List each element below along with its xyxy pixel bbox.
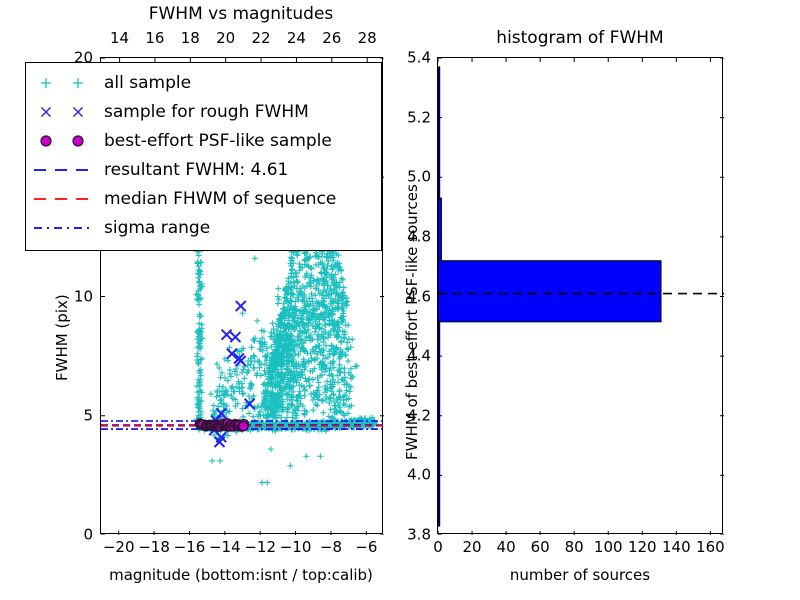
plus-icon <box>26 69 104 97</box>
histogram-x-tick: 120 <box>628 540 657 555</box>
histogram-x-tick: 100 <box>594 540 623 555</box>
histogram-y-tick: 4.0 <box>386 468 431 483</box>
legend-item-label: sample for rough FWHM <box>104 104 309 121</box>
legend-item[interactable]: sigma range <box>26 214 381 242</box>
histogram-x-tick: 60 <box>531 540 550 555</box>
legend-item[interactable]: all sample <box>26 69 381 97</box>
histogram-ylabel: FWHM of best-effort PSF-like sources <box>405 184 420 460</box>
scatter-bottom-tick: −12 <box>244 540 276 555</box>
scatter-ylabel: FWHM (pix) <box>55 294 70 381</box>
histogram-bar <box>438 322 440 347</box>
histogram-xlabel: number of sources <box>510 568 650 583</box>
histogram-x-tick: 20 <box>463 540 482 555</box>
histogram-bar <box>438 67 440 198</box>
scatter-bottom-tick: −20 <box>103 540 135 555</box>
legend-item-label: median FHWM of sequence <box>104 191 336 208</box>
scatter-bottom-tick: −6 <box>355 540 377 555</box>
dashed-line-icon <box>26 185 104 213</box>
histogram-x-tick: 40 <box>497 540 516 555</box>
histogram-plot-area <box>438 58 724 535</box>
scatter-bottom-tick: −10 <box>280 540 312 555</box>
scatter-top-tick: 14 <box>110 31 129 46</box>
scatter-top-tick: 16 <box>145 31 164 46</box>
scatter-top-tick: 18 <box>181 31 200 46</box>
scatter-top-tick: 20 <box>216 31 235 46</box>
histogram-title: histogram of FWHM <box>496 30 663 47</box>
histogram-x-tick: 140 <box>662 540 691 555</box>
histogram-bar <box>438 407 440 437</box>
histogram-bar <box>438 377 440 407</box>
histogram-bar <box>438 466 440 496</box>
histogram-bar <box>438 347 440 377</box>
scatter-top-tick: 24 <box>287 31 306 46</box>
histogram-x-tick: 160 <box>696 540 725 555</box>
scatter-top-tick: 28 <box>358 31 377 46</box>
legend-item[interactable]: sample for rough FWHM <box>26 98 381 126</box>
legend-item-label: sigma range <box>104 220 210 237</box>
scatter-bottom-tick: −14 <box>209 540 241 555</box>
histogram-bar <box>438 261 661 322</box>
legend-item[interactable]: median FHWM of sequence <box>26 185 381 213</box>
legend[interactable]: all samplesample for rough FWHMbest-effo… <box>25 62 382 251</box>
scatter-bottom-tick: −16 <box>174 540 206 555</box>
scatter-top-tick: 22 <box>252 31 271 46</box>
dashdot-line-icon <box>26 214 104 242</box>
histogram-bar <box>438 198 441 261</box>
legend-item-label: all sample <box>104 75 191 92</box>
histogram-y-tick: 5.2 <box>386 110 431 125</box>
histogram-bar <box>438 496 440 526</box>
histogram-x-tick: 0 <box>433 540 443 555</box>
scatter-top-tick: 26 <box>322 31 341 46</box>
scatter-title: FWHM vs magnitudes <box>149 6 334 23</box>
legend-item[interactable]: best-effort PSF-like sample <box>26 127 381 155</box>
scatter-y-tick: 10 <box>0 289 93 304</box>
scatter-y-tick: 5 <box>0 408 93 423</box>
scatter-xlabel: magnitude (bottom:isnt / top:calib) <box>109 568 373 583</box>
histogram-y-tick: 5.0 <box>386 170 431 185</box>
histogram-x-tick: 80 <box>565 540 584 555</box>
histogram-y-tick: 3.8 <box>386 528 431 543</box>
scatter-y-tick: 0 <box>0 528 93 543</box>
scatter-bottom-tick: −18 <box>138 540 170 555</box>
figure-canvas: FWHM vs magnitudes 1416182022242628 −20−… <box>0 0 800 600</box>
circle-icon <box>26 127 104 155</box>
dashed-line-icon <box>26 156 104 184</box>
histogram-bar <box>438 437 440 467</box>
cross-icon <box>26 98 104 126</box>
legend-item-label: best-effort PSF-like sample <box>104 133 332 150</box>
legend-item[interactable]: resultant FWHM: 4.61 <box>26 156 381 184</box>
legend-item-label: resultant FWHM: 4.61 <box>104 162 288 179</box>
scatter-bottom-tick: −8 <box>320 540 342 555</box>
histogram-y-tick: 5.4 <box>386 51 431 66</box>
